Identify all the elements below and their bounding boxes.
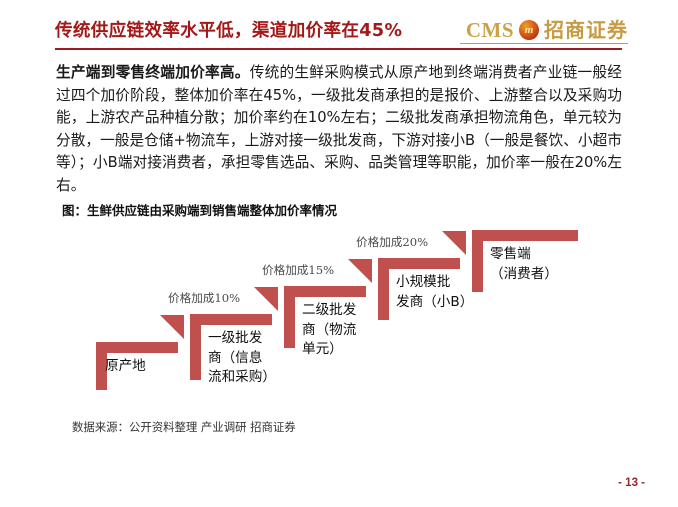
header-divider: [55, 48, 622, 50]
stage-label-origin: 原产地: [105, 357, 146, 377]
step-arrow-3: [348, 259, 372, 283]
slide: 传统供应链效率水平低，渠道加价率在45% CMS m 招商证券 生产端到零售终端…: [0, 0, 678, 507]
body-paragraph: 生产端到零售终端加价率高。传统的生鲜采购模式从原产地到终端消费者产业链一般经过四…: [56, 62, 622, 198]
brand-logo: CMS m 招商证券: [466, 16, 628, 44]
stage-label-retail-end: 零售端 （消费者）: [490, 245, 558, 284]
body-lead-sentence: 生产端到零售终端加价率高。: [56, 64, 250, 81]
markup-label-10: 价格加成10%: [168, 290, 240, 306]
logo-latin-text: CMS: [466, 20, 514, 41]
logo-underline: [460, 43, 628, 44]
page-number: - 13 -: [618, 477, 645, 489]
logo-chinese-text: 招商证券: [544, 20, 628, 40]
slide-header: 传统供应链效率水平低，渠道加价率在45% CMS m 招商证券: [0, 0, 678, 56]
figure-caption: 图：生鲜供应链由采购端到销售端整体加价率情况: [62, 200, 337, 219]
markup-label-15: 价格加成15%: [262, 262, 334, 278]
logo-emblem-icon: m: [519, 20, 539, 40]
supply-chain-staircase-diagram: 原产地 一级批发 商（信息 流和采购） 二级批发 商（物流 单元） 小规模批 发…: [0, 228, 678, 418]
markup-label-20: 价格加成20%: [356, 234, 428, 250]
stage-label-secondary-wholesaler: 二级批发 商（物流 单元）: [302, 301, 356, 360]
step-arrow-1: [160, 315, 184, 339]
page-title: 传统供应链效率水平低，渠道加价率在45%: [55, 17, 402, 42]
figure-source: 数据来源：公开资料整理 产业调研 招商证券: [72, 419, 296, 435]
body-paragraph-text: 传统的生鲜采购模式从原产地到终端消费者产业链一般经过四个加价阶段，整体加价率在4…: [56, 64, 622, 194]
step-arrow-4: [442, 231, 466, 255]
stage-label-primary-wholesaler: 一级批发 商（信息 流和采购）: [208, 329, 276, 388]
stage-label-small-wholesaler: 小规模批 发商（小B）: [396, 273, 473, 312]
step-arrow-2: [254, 287, 278, 311]
